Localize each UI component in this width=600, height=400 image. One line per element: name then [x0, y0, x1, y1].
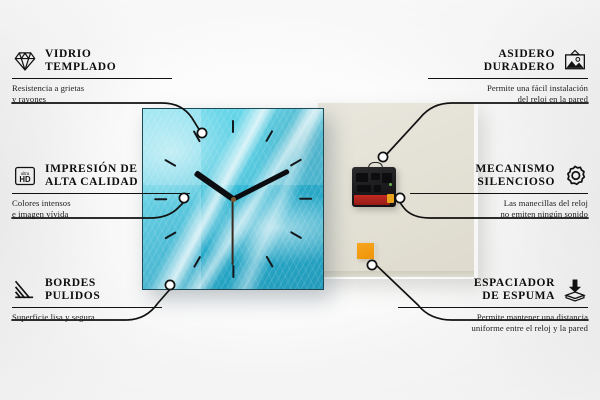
feature-divider	[12, 307, 162, 308]
foam-spacer-arrow-icon	[562, 277, 588, 303]
feature-desc-line1: Superficie lisa y segura	[12, 312, 212, 323]
feature-title-line1: ESPACIADOR	[474, 277, 555, 290]
feature-title: VIDRIO TEMPLADO	[45, 48, 116, 74]
feature-desc-line2: e imagen vívida	[12, 209, 212, 220]
feature-divider	[12, 193, 190, 194]
feature-asidero-duradero: ASIDERO DURADERO Permite una fácil insta…	[388, 48, 588, 104]
feature-divider	[428, 78, 588, 79]
feature-desc-line1: Colores intensos	[12, 198, 212, 209]
feature-title: ASIDERO DURADERO	[484, 48, 555, 74]
feature-title-line1: ASIDERO	[484, 48, 555, 61]
svg-text:HD: HD	[19, 175, 31, 184]
feature-desc-line2: y rayones	[12, 94, 212, 105]
mechanism-detail	[356, 173, 368, 182]
clock-center-cap	[231, 197, 236, 202]
feature-vidrio-templado: VIDRIO TEMPLADO Resistencia a grietas y …	[12, 48, 212, 104]
mechanism-detail	[374, 185, 381, 192]
feature-description: Resistencia a grietas y rayones	[12, 83, 212, 104]
feature-desc-line2: del reloj en la pared	[388, 94, 588, 105]
hanging-frame-icon	[562, 48, 588, 74]
feature-title-line2: TEMPLADO	[45, 61, 116, 74]
feature-title-line2: ALTA CALIDAD	[45, 176, 138, 189]
mechanism-battery	[354, 195, 390, 205]
feature-header: ASIDERO DURADERO	[388, 48, 588, 74]
feature-header: VIDRIO TEMPLADO	[12, 48, 212, 74]
feature-bordes-pulidos: BORDES PULIDOS Superficie lisa y segura	[12, 277, 212, 323]
feature-espaciador-espuma: ESPACIADOR DE ESPUMA Permite mantener un…	[388, 277, 588, 333]
foam-spacer-sample	[357, 243, 374, 259]
feature-description: Superficie lisa y segura	[12, 312, 212, 323]
feature-title: ESPACIADOR DE ESPUMA	[474, 277, 555, 303]
feature-mecanismo-silencioso: MECANISMO SILENCIOSO Las manecillas del …	[388, 163, 588, 219]
feature-desc-line1: Permite mantener una distancia	[388, 312, 588, 323]
ultra-hd-badge-icon: ultra HD	[12, 163, 38, 189]
clock-tick	[232, 265, 234, 278]
feature-title-line1: BORDES	[45, 277, 100, 290]
feature-title-line2: PULIDOS	[45, 290, 100, 303]
foam-spacer-side	[374, 245, 378, 261]
feature-impresion-alta-calidad: ultra HD IMPRESIÓN DE ALTA CALIDAD Color…	[12, 163, 212, 219]
diamond-icon	[12, 48, 38, 74]
feature-divider	[12, 78, 172, 79]
feature-header: MECANISMO SILENCIOSO	[388, 163, 588, 189]
feature-divider	[410, 193, 588, 194]
feature-header: ultra HD IMPRESIÓN DE ALTA CALIDAD	[12, 163, 212, 189]
gear-icon	[562, 163, 588, 189]
feature-header: BORDES PULIDOS	[12, 277, 212, 303]
clock-second-hand	[232, 199, 234, 265]
feature-title-line1: VIDRIO	[45, 48, 116, 61]
feature-header: ESPACIADOR DE ESPUMA	[388, 277, 588, 303]
infographic-canvas: VIDRIO TEMPLADO Resistencia a grietas y …	[0, 0, 600, 400]
feature-description: Las manecillas del reloj no emiten ningú…	[388, 198, 588, 219]
mechanism-detail	[371, 173, 380, 180]
feature-description: Permite mantener una distancia uniforme …	[388, 312, 588, 333]
feature-title-line1: MECANISMO	[475, 163, 555, 176]
feature-desc-line1: Las manecillas del reloj	[388, 198, 588, 209]
feature-description: Permite una fácil instalación del reloj …	[388, 83, 588, 104]
feature-desc-line2: uniforme entre el reloj y la pared	[388, 323, 588, 334]
polished-edges-icon	[12, 277, 38, 303]
feature-title-line2: DE ESPUMA	[474, 290, 555, 303]
feature-divider	[398, 307, 588, 308]
mechanism-detail	[357, 185, 371, 192]
feature-description: Colores intensos e imagen vívida	[12, 198, 212, 219]
feature-title: MECANISMO SILENCIOSO	[475, 163, 555, 189]
feature-desc-line1: Resistencia a grietas	[12, 83, 212, 94]
feature-title: IMPRESIÓN DE ALTA CALIDAD	[45, 163, 138, 189]
feature-title-line2: SILENCIOSO	[475, 176, 555, 189]
feature-title-line1: IMPRESIÓN DE	[45, 163, 138, 176]
feature-desc-line1: Permite una fácil instalación	[388, 83, 588, 94]
feature-title: BORDES PULIDOS	[45, 277, 100, 303]
feature-desc-line2: no emiten ningún sonido	[388, 209, 588, 220]
mechanism-hanger-hook	[368, 162, 383, 172]
feature-title-line2: DURADERO	[484, 61, 555, 74]
